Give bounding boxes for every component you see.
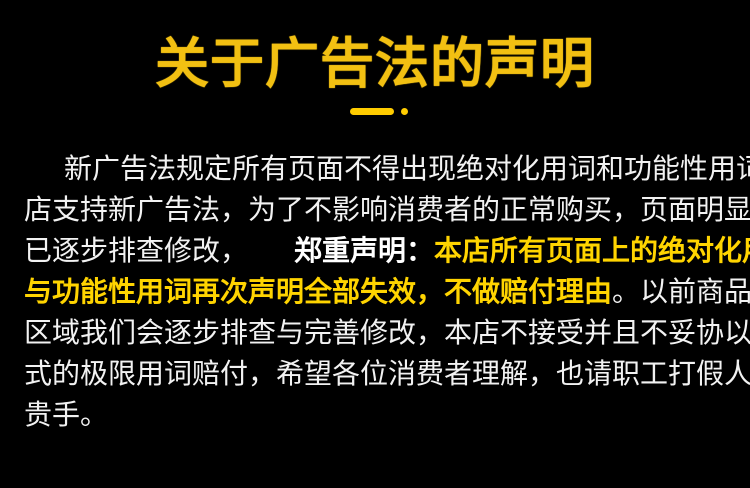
- statement-line-1: 新广告法规定所有页面不得出现绝对化用词和功能性用词。本: [24, 148, 730, 189]
- statement-line-2: 店支持新广告法，为了不影响消费者的正常购买，页面明显去本店: [24, 189, 730, 230]
- divider-bar-icon: [350, 108, 394, 115]
- statement-line-4: 与功能性用词再次声明全部失效，不做赔付理由。以前商品不明显: [24, 271, 730, 312]
- solemn-declaration-label: 郑重声明：: [294, 235, 434, 266]
- title-divider: [0, 108, 750, 115]
- highlighted-text: 本店所有页面上的绝对化用词: [434, 235, 750, 266]
- body-text: 区域我们会逐步排查与完善修改，本店不接受并且不妥协以任何形: [24, 317, 750, 348]
- body-text: 贵手。: [24, 399, 108, 430]
- statement-body: 新广告法规定所有页面不得出现绝对化用词和功能性用词。本店支持新广告法，为了不影响…: [24, 148, 730, 435]
- body-text: 。以前商品不明显: [612, 276, 750, 307]
- body-text: 店支持新广告法，为了不影响消费者的正常购买，页面明显去本店: [24, 194, 750, 225]
- statement-line-6: 式的极限用词赔付，希望各位消费者理解，也请职工打假人士高抬: [24, 353, 730, 394]
- title-block: 关于广告法的声明: [0, 34, 750, 94]
- body-text: 式的极限用词赔付，希望各位消费者理解，也请职工打假人士高抬: [24, 358, 750, 389]
- body-text: 新广告法规定所有页面不得出现绝对化用词和功能性用词。本: [64, 153, 750, 184]
- statement-line-7: 贵手。: [24, 394, 730, 435]
- highlighted-text: 与功能性用词再次声明全部失效，不做赔付理由: [24, 276, 612, 307]
- body-text: 已逐步排查修改，: [24, 235, 248, 266]
- divider-dot-icon: [401, 108, 408, 115]
- statement-banner: 关于广告法的声明 新广告法规定所有页面不得出现绝对化用词和功能性用词。本店支持新…: [0, 0, 750, 488]
- statement-line-3: 已逐步排查修改，郑重声明：本店所有页面上的绝对化用词: [24, 230, 730, 271]
- statement-line-5: 区域我们会逐步排查与完善修改，本店不接受并且不妥协以任何形: [24, 312, 730, 353]
- page-title: 关于广告法的声明: [0, 34, 750, 94]
